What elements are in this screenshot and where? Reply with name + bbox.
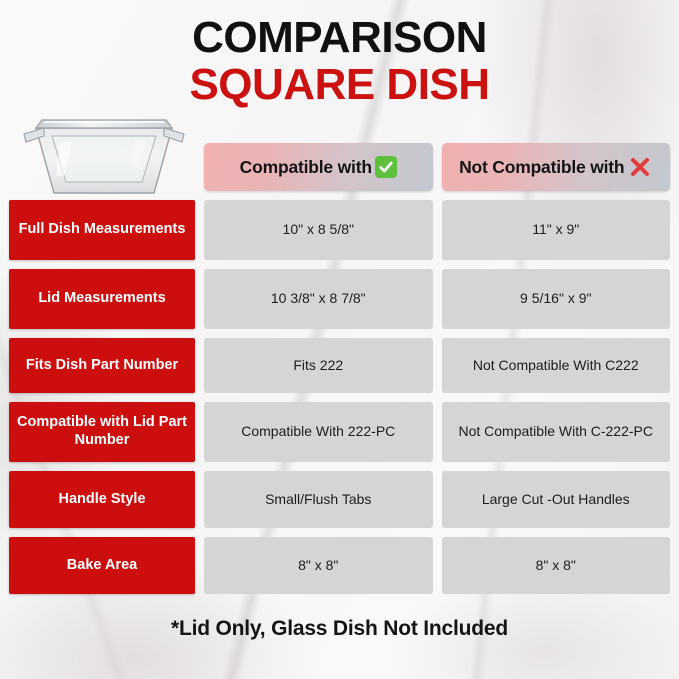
row-label-cell: Compatible with Lid Part Number <box>9 402 195 462</box>
page-title: COMPARISON SQUARE DISH <box>0 16 679 108</box>
table-row: Full Dish Measurements 10" x 8 5/8" 11" … <box>0 200 679 260</box>
row-label-cell: Full Dish Measurements <box>9 200 195 260</box>
row-value-cell-compatible: 10 3/8" x 8 7/8" <box>204 269 433 329</box>
row-value-cell-compatible: Small/Flush Tabs <box>204 471 433 528</box>
value-not-compatible-fits-dish-part-number: Not Compatible With C222 <box>442 338 671 393</box>
row-label-compatible-with-lid-part-number: Compatible with Lid Part Number <box>9 402 195 462</box>
row-value-cell-not-compatible: 8" x 8" <box>442 537 671 594</box>
table-header-row: Compatible with Not Compatible with <box>0 143 679 191</box>
row-value-cell-not-compatible: 11" x 9" <box>442 200 671 260</box>
value-not-compatible-lid-measurements: 9 5/16" x 9" <box>442 269 671 329</box>
value-compatible-fits-dish-part-number: Fits 222 <box>204 338 433 393</box>
row-value-cell-not-compatible: Not Compatible With C-222-PC <box>442 402 671 462</box>
value-not-compatible-handle-style: Large Cut -Out Handles <box>442 471 671 528</box>
row-value-cell-not-compatible: 9 5/16" x 9" <box>442 269 671 329</box>
value-compatible-bake-area: 8" x 8" <box>204 537 433 594</box>
row-label-fits-dish-part-number: Fits Dish Part Number <box>9 338 195 393</box>
table-row: Compatible with Lid Part Number Compatib… <box>0 402 679 462</box>
row-value-cell-compatible: Compatible With 222-PC <box>204 402 433 462</box>
comparison-table: Compatible with Not Compatible with <box>0 143 679 603</box>
column-header-compatible-label: Compatible with <box>240 157 372 178</box>
table-row: Lid Measurements 10 3/8" x 8 7/8" 9 5/16… <box>0 269 679 329</box>
row-value-cell-compatible: Fits 222 <box>204 338 433 393</box>
cross-mark-icon <box>627 155 652 180</box>
table-row: Fits Dish Part Number Fits 222 Not Compa… <box>0 338 679 393</box>
row-label-cell: Handle Style <box>9 471 195 528</box>
row-label-full-dish-measurements: Full Dish Measurements <box>9 200 195 260</box>
value-compatible-lid-measurements: 10 3/8" x 8 7/8" <box>204 269 433 329</box>
table-row: Bake Area 8" x 8" 8" x 8" <box>0 537 679 594</box>
value-not-compatible-bake-area: 8" x 8" <box>442 537 671 594</box>
value-compatible-lid-part-number: Compatible With 222-PC <box>204 402 433 462</box>
row-label-cell: Fits Dish Part Number <box>9 338 195 393</box>
row-label-lid-measurements: Lid Measurements <box>9 269 195 329</box>
value-compatible-full-dish-measurements: 10" x 8 5/8" <box>204 200 433 260</box>
row-value-cell-not-compatible: Large Cut -Out Handles <box>442 471 671 528</box>
value-compatible-handle-style: Small/Flush Tabs <box>204 471 433 528</box>
footnote-disclaimer: *Lid Only, Glass Dish Not Included <box>0 617 679 641</box>
row-label-handle-style: Handle Style <box>9 471 195 528</box>
comparison-infographic: COMPARISON SQUARE DISH <box>0 0 679 679</box>
row-value-cell-not-compatible: Not Compatible With C222 <box>442 338 671 393</box>
column-header-compatible: Compatible with <box>204 143 433 191</box>
value-not-compatible-lid-part-number: Not Compatible With C-222-PC <box>442 402 671 462</box>
value-not-compatible-full-dish-measurements: 11" x 9" <box>442 200 671 260</box>
check-mark-icon <box>375 156 397 178</box>
column-header-not-compatible-label: Not Compatible with <box>459 157 624 178</box>
table-row: Handle Style Small/Flush Tabs Large Cut … <box>0 471 679 528</box>
row-value-cell-compatible: 8" x 8" <box>204 537 433 594</box>
row-value-cell-compatible: 10" x 8 5/8" <box>204 200 433 260</box>
row-label-cell: Bake Area <box>9 537 195 594</box>
title-line-comparison: COMPARISON <box>0 16 679 61</box>
column-header-not-compatible: Not Compatible with <box>442 143 671 191</box>
row-label-bake-area: Bake Area <box>9 537 195 594</box>
row-label-cell: Lid Measurements <box>9 269 195 329</box>
header-corner-spacer <box>9 143 195 191</box>
